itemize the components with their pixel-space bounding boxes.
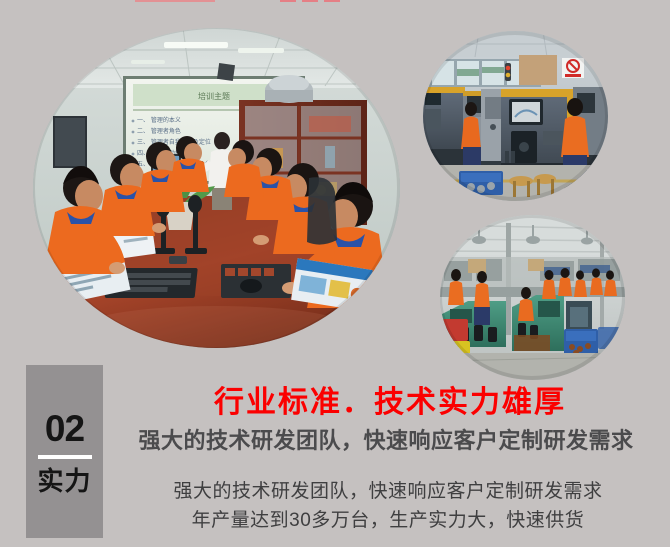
- cut-off-red-block-icon: [280, 0, 296, 2]
- svg-text:一、 管理的本义: 一、 管理的本义: [137, 116, 181, 124]
- badge-divider: [38, 455, 92, 459]
- badge-label: 实力: [37, 468, 91, 494]
- section-headline: 行业标准．技术实力雄厚: [120, 386, 660, 420]
- svg-text:三、 管理者自我认知及定位: 三、 管理者自我认知及定位: [137, 138, 211, 146]
- cut-off-red-bar-icon: [135, 0, 215, 2]
- svg-text:二、 管理者角色: 二、 管理者角色: [137, 127, 181, 135]
- page-root: 培训主题 一、 管理的本义 二、 管理者角色 三、 管理者自我认知及定位 四、 …: [0, 0, 670, 547]
- cut-off-red-block-icon: [324, 0, 340, 2]
- badge-number: 02: [45, 410, 84, 447]
- svg-text:培训主题: 培训主题: [198, 91, 230, 101]
- production-assembly-floor-photo: [440, 215, 625, 380]
- body-line: 年产量达到30多万台，生产实力大，快速供货: [110, 507, 666, 536]
- section-number-badge: 02 实力: [26, 365, 103, 538]
- training-room-meeting-photo: 培训主题 一、 管理的本义 二、 管理者角色 三、 管理者自我认知及定位 四、 …: [33, 28, 400, 348]
- cut-off-red-block-icon: [302, 0, 318, 2]
- cnc-machine-workshop-photo: [423, 31, 608, 201]
- section-body-copy: 强大的技术研发团队，快速响应客户定制研发需求 年产量达到30多万台，生产实力大，…: [110, 478, 666, 536]
- body-line: 强大的技术研发团队，快速响应客户定制研发需求: [110, 478, 666, 507]
- section-subheadline: 强大的技术研发团队，快速响应客户定制研发需求: [108, 428, 664, 453]
